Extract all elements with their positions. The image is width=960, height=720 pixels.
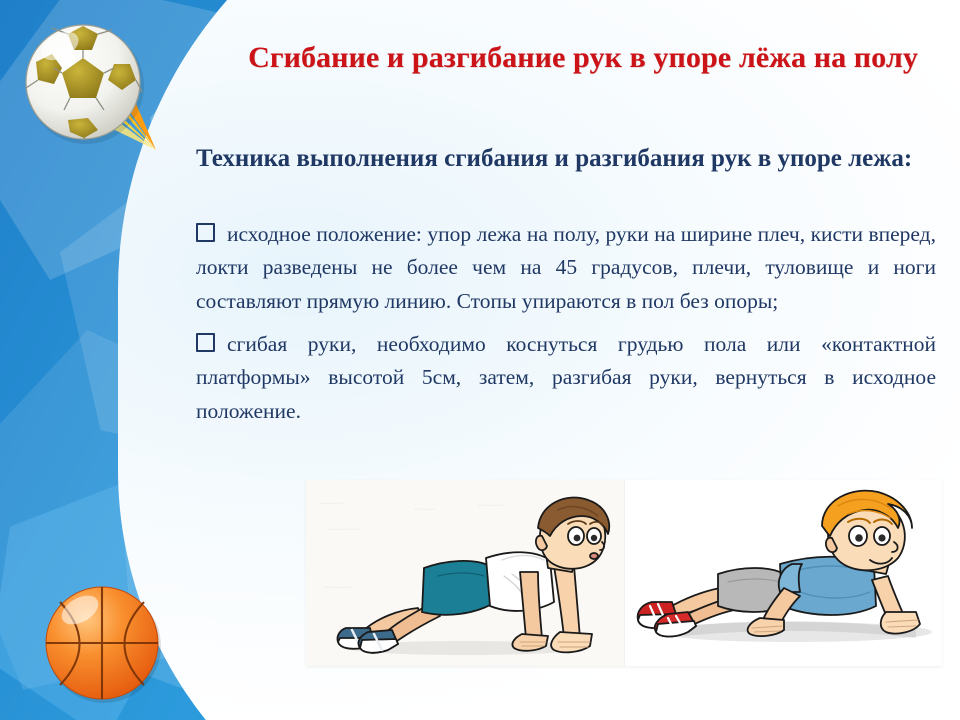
bullet-item-2-text: сгибая руки, необходимо коснуться грудью… bbox=[196, 332, 936, 423]
section-subtitle: Техника выполнения сгибания и разгибания… bbox=[196, 142, 914, 175]
basketball-icon bbox=[38, 578, 168, 708]
square-bullet-icon bbox=[196, 223, 215, 242]
exercise-illustration: ~~~~~~ ~~~~~~~~ ~~~~~ ~~~~~~ ~~~~~ ~~~~~… bbox=[306, 480, 942, 666]
bullet-item-1: исходное положение: упор лежа на полу, р… bbox=[196, 218, 936, 318]
soccer-ball-icon bbox=[12, 10, 157, 155]
square-bullet-icon bbox=[196, 333, 215, 352]
bullet-item-1-text: исходное положение: упор лежа на полу, р… bbox=[196, 222, 936, 313]
page-title: Сгибание и разгибание рук в упоре лёжа н… bbox=[238, 38, 928, 77]
boy-plank-position bbox=[306, 480, 624, 666]
bullet-item-2: сгибая руки, необходимо коснуться грудью… bbox=[196, 328, 936, 428]
boy-lowered-pushup bbox=[624, 480, 942, 666]
body-text-block: исходное положение: упор лежа на полу, р… bbox=[196, 218, 936, 434]
presentation-slide: Сгибание и разгибание рук в упоре лёжа н… bbox=[0, 0, 960, 720]
